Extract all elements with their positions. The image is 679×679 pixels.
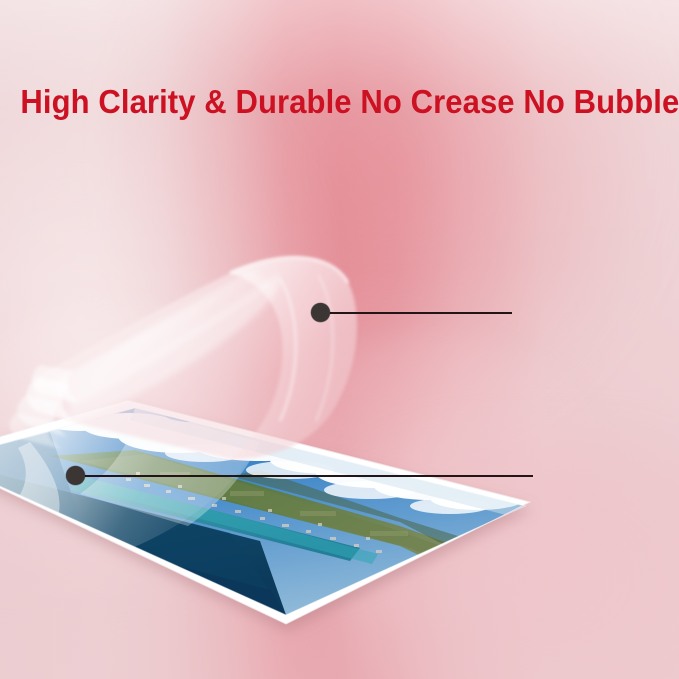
- infographic-canvas: High Clarity & Durable No Crease No Bubb…: [0, 0, 679, 679]
- leader-line-pet: [330, 312, 512, 314]
- callout-dot-eva[interactable]: [66, 466, 85, 485]
- page-title: High Clarity & Durable No Crease No Bubb…: [20, 83, 658, 121]
- callout-dot-pet[interactable]: [311, 303, 330, 322]
- leader-line-eva: [85, 475, 533, 477]
- pet-film-sheet: [0, 245, 400, 475]
